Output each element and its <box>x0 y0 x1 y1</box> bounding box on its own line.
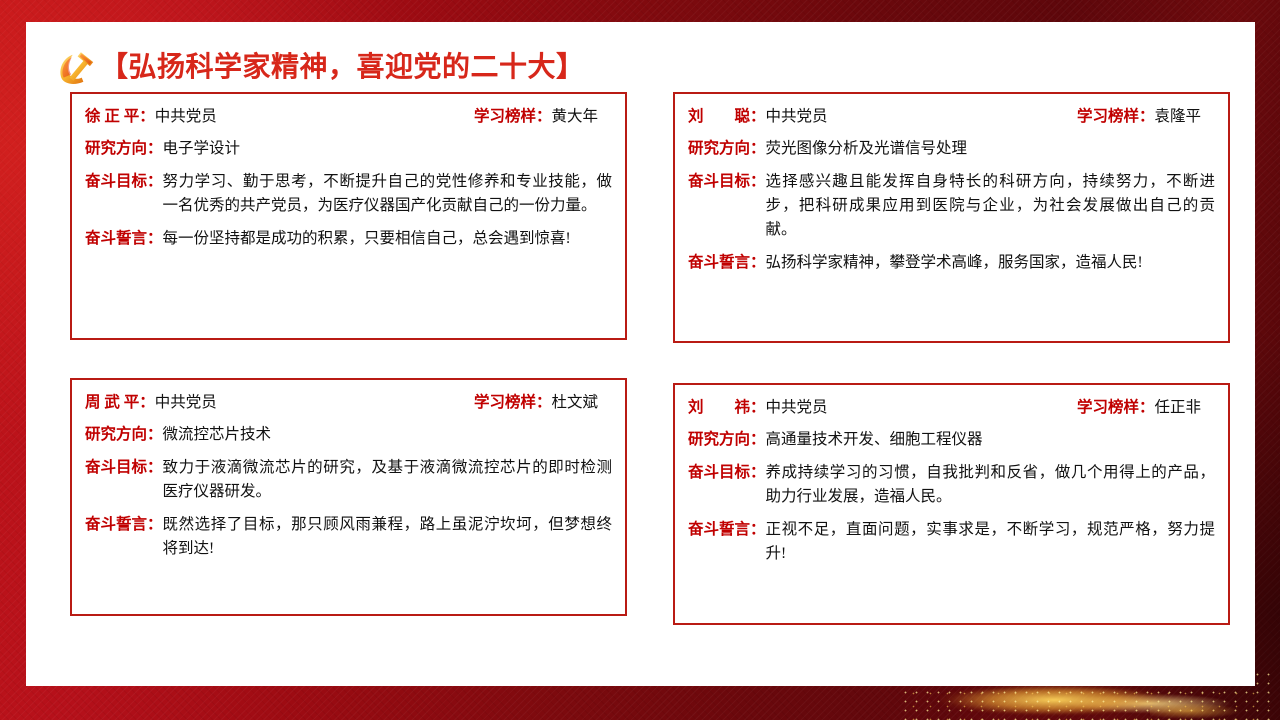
member-card-grid: 徐 正 平： 中共党员 学习榜样： 黄大年 研究方向： 电子学设计 奋斗目标： … <box>70 92 1230 662</box>
goal-row: 奋斗目标： 致力于液滴微流芯片的研究，及基于液滴微流控芯片的即时检测医疗仪器研发… <box>85 456 612 504</box>
research-value: 电子学设计 <box>163 137 612 161</box>
party-status: 中共党员 <box>766 395 828 417</box>
card-header: 刘 祎： 中共党员 学习榜样： 任正非 <box>688 395 1215 417</box>
oath-value: 既然选择了目标，那只顾风雨兼程，路上虽泥泞坎坷，但梦想终将到达! <box>163 513 612 561</box>
member-card[interactable]: 周 武 平： 中共党员 学习榜样： 杜文斌 研究方向： 微流控芯片技术 奋斗目标… <box>70 378 627 616</box>
card-header: 周 武 平： 中共党员 学习榜样： 杜文斌 <box>85 390 612 412</box>
goal-row: 奋斗目标： 养成持续学习的习惯，自我批判和反省，做几个用得上的产品，助力行业发展… <box>688 461 1215 509</box>
role-model-label: 学习榜样： <box>1077 104 1155 126</box>
role-model-group: 学习榜样： 杜文斌 <box>474 390 612 412</box>
party-status: 中共党员 <box>766 104 828 126</box>
party-status: 中共党员 <box>155 390 217 412</box>
card-header: 徐 正 平： 中共党员 学习榜样： 黄大年 <box>85 104 612 126</box>
oath-value: 弘扬科学家精神，攀登学术高峰，服务国家，造福人民! <box>766 251 1215 275</box>
goal-label: 奋斗目标： <box>85 170 163 194</box>
role-model-value: 任正非 <box>1154 395 1201 417</box>
role-model-group: 学习榜样： 袁隆平 <box>1077 104 1215 126</box>
slide-root: 【弘扬科学家精神，喜迎党的二十大】 徐 正 平： 中共党员 学习榜样： 黄大年 <box>0 0 1280 720</box>
page-title: 【弘扬科学家精神，喜迎党的二十大】 <box>100 53 585 81</box>
role-model-label: 学习榜样： <box>474 390 552 412</box>
research-value: 荧光图像分析及光谱信号处理 <box>766 137 1215 161</box>
goal-value: 致力于液滴微流芯片的研究，及基于液滴微流控芯片的即时检测医疗仪器研发。 <box>163 456 612 504</box>
research-label: 研究方向： <box>85 137 163 161</box>
oath-row: 奋斗誓言： 弘扬科学家精神，攀登学术高峰，服务国家，造福人民! <box>688 251 1215 275</box>
research-label: 研究方向： <box>688 137 766 161</box>
goal-row: 奋斗目标： 努力学习、勤于思考，不断提升自己的党性修养和专业技能，做一名优秀的共… <box>85 170 612 218</box>
role-model-value: 黄大年 <box>551 104 598 126</box>
oath-label: 奋斗誓言： <box>688 251 766 275</box>
white-content-panel: 【弘扬科学家精神，喜迎党的二十大】 徐 正 平： 中共党员 学习榜样： 黄大年 <box>26 22 1255 686</box>
member-name-group: 周 武 平： 中共党员 <box>85 390 217 412</box>
oath-row: 奋斗誓言： 既然选择了目标，那只顾风雨兼程，路上虽泥泞坎坷，但梦想终将到达! <box>85 513 612 561</box>
oath-label: 奋斗誓言： <box>85 513 163 537</box>
slide-title-row: 【弘扬科学家精神，喜迎党的二十大】 <box>56 45 585 89</box>
member-name-group: 徐 正 平： 中共党员 <box>85 104 217 126</box>
oath-row: 奋斗誓言： 每一份坚持都是成功的积累，只要相信自己，总会遇到惊喜! <box>85 227 612 251</box>
oath-row: 奋斗誓言： 正视不足，直面问题，实事求是，不断学习，规范严格，努力提升! <box>688 518 1215 566</box>
research-value: 微流控芯片技术 <box>163 423 612 447</box>
role-model-group: 学习榜样： 黄大年 <box>474 104 612 126</box>
goal-label: 奋斗目标： <box>688 170 766 194</box>
role-model-group: 学习榜样： 任正非 <box>1077 395 1215 417</box>
goal-value: 选择感兴趣且能发挥自身特长的科研方向，持续努力，不断进步，把科研成果应用到医院与… <box>766 170 1215 242</box>
goal-label: 奋斗目标： <box>85 456 163 480</box>
research-row: 研究方向： 电子学设计 <box>85 137 612 161</box>
goal-row: 奋斗目标： 选择感兴趣且能发挥自身特长的科研方向，持续努力，不断进步，把科研成果… <box>688 170 1215 242</box>
goal-label: 奋斗目标： <box>688 461 766 485</box>
role-model-value: 袁隆平 <box>1154 104 1201 126</box>
oath-value: 正视不足，直面问题，实事求是，不断学习，规范严格，努力提升! <box>766 518 1215 566</box>
research-row: 研究方向： 荧光图像分析及光谱信号处理 <box>688 137 1215 161</box>
role-model-value: 杜文斌 <box>551 390 598 412</box>
member-name: 刘 祎： <box>688 395 766 417</box>
goal-value: 养成持续学习的习惯，自我批判和反省，做几个用得上的产品，助力行业发展，造福人民。 <box>766 461 1215 509</box>
role-model-label: 学习榜样： <box>474 104 552 126</box>
member-name: 周 武 平： <box>85 390 155 412</box>
research-value: 高通量技术开发、细胞工程仪器 <box>766 428 1215 452</box>
oath-value: 每一份坚持都是成功的积累，只要相信自己，总会遇到惊喜! <box>163 227 612 251</box>
member-name: 徐 正 平： <box>85 104 155 126</box>
member-card[interactable]: 刘 祎： 中共党员 学习榜样： 任正非 研究方向： 高通量技术开发、细胞工程仪器… <box>673 383 1230 625</box>
research-row: 研究方向： 高通量技术开发、细胞工程仪器 <box>688 428 1215 452</box>
gold-glow-decoration <box>1150 700 1280 720</box>
research-row: 研究方向： 微流控芯片技术 <box>85 423 612 447</box>
card-header: 刘 聪： 中共党员 学习榜样： 袁隆平 <box>688 104 1215 126</box>
role-model-label: 学习榜样： <box>1077 395 1155 417</box>
oath-label: 奋斗誓言： <box>688 518 766 542</box>
research-label: 研究方向： <box>688 428 766 452</box>
member-name-group: 刘 祎： 中共党员 <box>688 395 828 417</box>
goal-value: 努力学习、勤于思考，不断提升自己的党性修养和专业技能，做一名优秀的共产党员，为医… <box>163 170 612 218</box>
oath-label: 奋斗誓言： <box>85 227 163 251</box>
member-card[interactable]: 徐 正 平： 中共党员 学习榜样： 黄大年 研究方向： 电子学设计 奋斗目标： … <box>70 92 627 340</box>
member-name-group: 刘 聪： 中共党员 <box>688 104 828 126</box>
research-label: 研究方向： <box>85 423 163 447</box>
cpc-party-emblem-icon <box>56 49 96 85</box>
member-name: 刘 聪： <box>688 104 766 126</box>
party-status: 中共党员 <box>155 104 217 126</box>
member-card[interactable]: 刘 聪： 中共党员 学习榜样： 袁隆平 研究方向： 荧光图像分析及光谱信号处理 … <box>673 92 1230 343</box>
